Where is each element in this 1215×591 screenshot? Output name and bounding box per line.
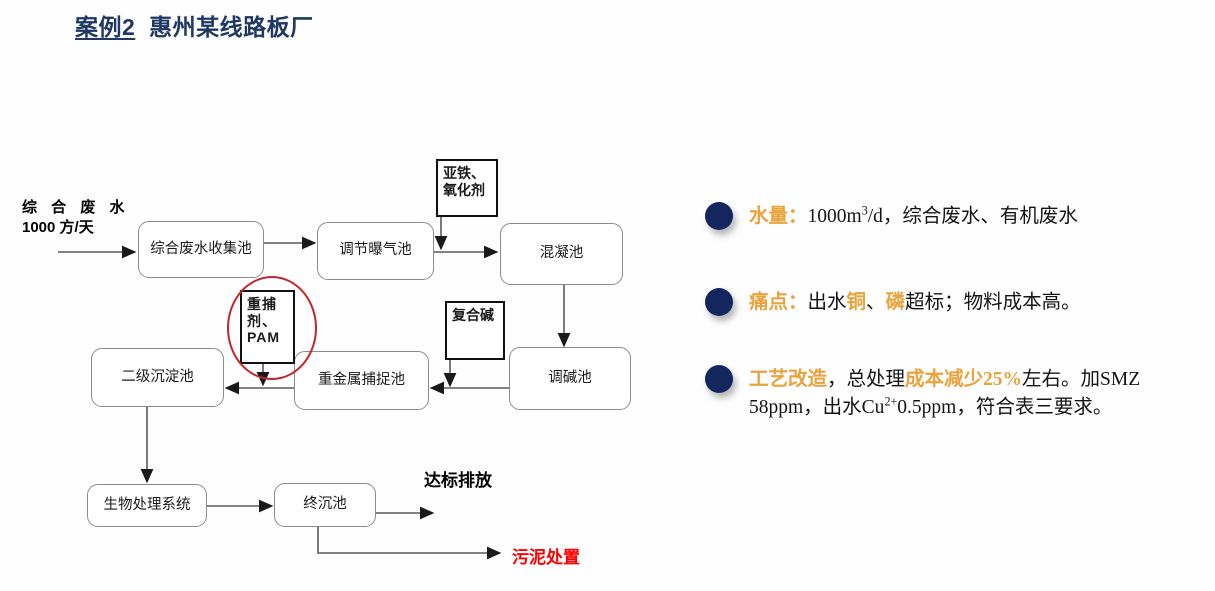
- node-adjustment-aeration-tank[interactable]: 调节曝气池: [317, 222, 434, 280]
- node-comprehensive-wastewater-collection-tank[interactable]: 综合废水收集池: [138, 221, 264, 278]
- bullet-dot-wrap: [705, 202, 749, 230]
- bullet-text-process-improvement: 工艺改造，总处理成本减少25%左右。加SMZ 58ppm，出水Cu2+0.5pp…: [749, 365, 1201, 423]
- summary-panel: 水量：1000m3/d，综合废水、有机废水 痛点：出水铜、磷超标；物料成本高。 …: [700, 0, 1215, 591]
- node-label: 生物处理系统: [104, 496, 191, 516]
- node-label: 重金属捕捉池: [318, 371, 405, 391]
- bullet-seg-plain: 1000m: [808, 206, 862, 227]
- bullet-dot-icon: [705, 288, 733, 316]
- bullet-text-water-volume: 水量：1000m3/d，综合废水、有机废水: [749, 202, 1078, 231]
- node-label: 二级沉淀池: [121, 368, 194, 388]
- node-coagulation-tank[interactable]: 混凝池: [500, 223, 623, 285]
- wire-finalsed-to-sludge: [318, 526, 499, 553]
- bullet-dot-wrap: [705, 288, 749, 316]
- bullet-seg-plain: /d，综合废水、有机废水: [868, 206, 1078, 227]
- bullet-seg-plain: 、: [866, 292, 886, 313]
- bullet-seg-highlight: 铜: [847, 292, 867, 313]
- inlet-label: 综 合 废 水 1000 方/天: [22, 198, 130, 239]
- node-label: 混凝池: [540, 244, 584, 264]
- bullet-text-pain-points: 痛点：出水铜、磷超标；物料成本高。: [749, 288, 1081, 317]
- reagent-label: 亚铁、氧化剂: [443, 165, 491, 198]
- node-final-sedimentation-tank[interactable]: 终沉池: [274, 483, 376, 527]
- bullet-seg-plain: ，总处理: [827, 369, 905, 390]
- bullet-seg-plain: 出水: [808, 292, 847, 313]
- reagent-box-ferrous-oxidant[interactable]: 亚铁、氧化剂: [436, 159, 498, 217]
- reagent-label: 复合碱: [452, 307, 494, 324]
- red-highlight-ellipse: [227, 276, 317, 380]
- reagent-box-compound-alkali[interactable]: 复合碱: [445, 301, 505, 360]
- node-label: 综合废水收集池: [150, 240, 252, 260]
- bullet-item-pain-points: 痛点：出水铜、磷超标；物料成本高。: [705, 288, 1215, 317]
- inlet-label-line1: 综 合 废 水: [22, 199, 130, 216]
- bullet-dot-icon: [705, 365, 733, 393]
- output-label-compliant-discharge: 达标排放: [424, 466, 492, 491]
- bullet-seg-highlight: 磷: [886, 292, 906, 313]
- bullet-seg-plain: 超标；物料成本高。: [905, 292, 1081, 313]
- node-biological-treatment-system[interactable]: 生物处理系统: [87, 484, 207, 527]
- inlet-label-line2: 1000 方/天: [22, 219, 94, 236]
- bullet-seg-highlight: 痛点：: [749, 292, 808, 313]
- bullet-seg-superscript: 2+: [884, 395, 897, 409]
- bullet-dot-icon: [705, 202, 733, 230]
- bullet-seg-highlight: 成本减少25%: [905, 369, 1022, 390]
- bullet-seg-highlight: 水量：: [749, 206, 808, 227]
- bullet-item-water-volume: 水量：1000m3/d，综合废水、有机废水: [705, 202, 1215, 231]
- node-alkali-adjustment-tank[interactable]: 调碱池: [509, 347, 631, 410]
- bullet-seg-plain: 0.5ppm，符合表三要求。: [897, 397, 1112, 418]
- node-heavy-metal-capture-tank[interactable]: 重金属捕捉池: [294, 351, 429, 410]
- process-flow-diagram: 综 合 废 水 1000 方/天 综合废水收集池 调节曝气池 混凝池 调碱池 重…: [0, 0, 660, 591]
- output-label-sludge-disposal: 污泥处置: [512, 543, 580, 568]
- node-label: 调碱池: [548, 369, 592, 389]
- node-label: 调节曝气池: [339, 241, 412, 261]
- slide-canvas: 案例2 惠州某线路板厂: [0, 0, 1215, 591]
- node-label: 终沉池: [303, 495, 347, 515]
- bullet-dot-wrap: [705, 365, 749, 393]
- bullet-seg-highlight: 工艺改造: [749, 369, 827, 390]
- bullet-item-process-improvement: 工艺改造，总处理成本减少25%左右。加SMZ 58ppm，出水Cu2+0.5pp…: [705, 365, 1205, 423]
- node-secondary-sedimentation-tank[interactable]: 二级沉淀池: [91, 348, 224, 407]
